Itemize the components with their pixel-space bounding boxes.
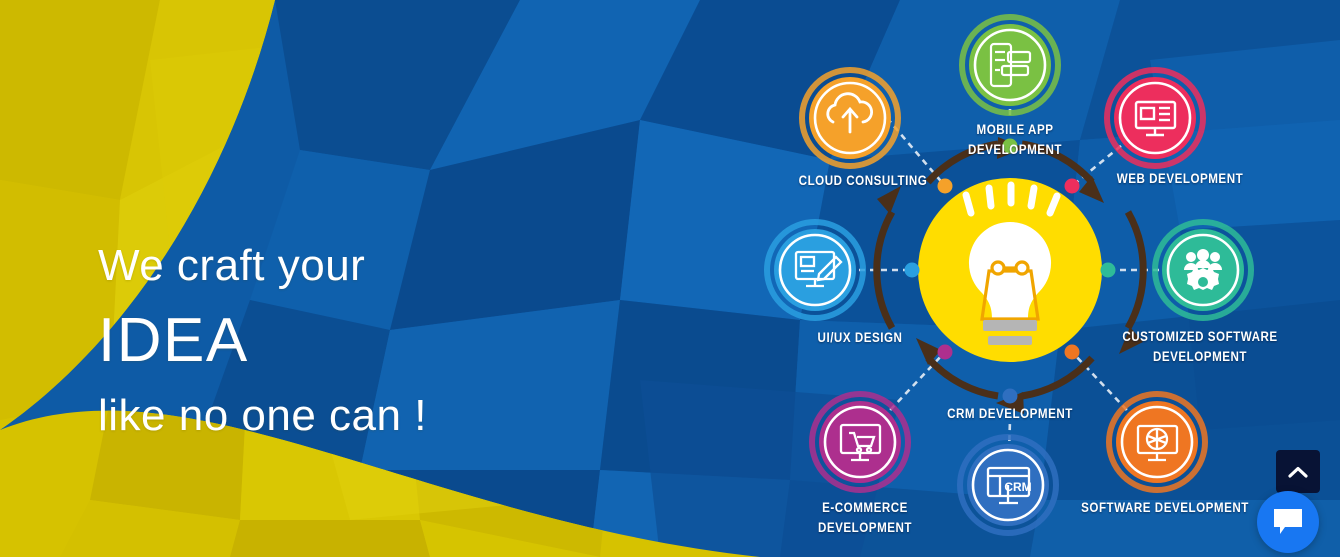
node-web-development[interactable] (1107, 70, 1203, 166)
label-cloud-consulting: CLOUD CONSULTING (781, 171, 944, 191)
node-mobile-app-development[interactable] (962, 17, 1058, 113)
headline-line-3: like no one can ! (98, 394, 528, 438)
services-wheel-graphic: CRM (740, 0, 1340, 557)
label-e-commerce-development: E-COMMERCE DEVELOPMENT (775, 498, 956, 537)
label-web-development: WEB DEVELOPMENT (1098, 169, 1261, 189)
label-software-development: SOFTWARE DEVELOPMENT (1075, 498, 1256, 518)
headline-line-1: We craft your (98, 244, 528, 288)
hero-banner: We craft your IDEA like no one can ! (0, 0, 1340, 557)
scroll-to-top-button[interactable] (1276, 450, 1320, 493)
label-crm-development: CRM DEVELOPMENT (933, 404, 1088, 424)
hero-headline: We craft your IDEA like no one can ! (98, 244, 528, 438)
label-ui-ux-design: UI/UX DESIGN (791, 328, 929, 348)
node-e-commerce-development[interactable] (812, 394, 908, 490)
services-wheel-diagram: CRM (740, 0, 1340, 557)
node-cloud-consulting[interactable] (802, 70, 898, 166)
node-software-development[interactable] (1109, 394, 1205, 490)
label-customized-software-development: CUSTOMIZED SOFTWARE DEVELOPMENT (1110, 327, 1291, 366)
node-customized-software-development[interactable] (1155, 222, 1251, 318)
svg-text:CRM: CRM (1004, 480, 1031, 494)
chat-bubble-icon (1273, 508, 1303, 536)
chevron-up-icon (1288, 465, 1308, 479)
label-mobile-app-development: MOBILE APP DEVELOPMENT (946, 120, 1084, 159)
node-ui-ux-design[interactable] (767, 222, 863, 318)
chat-widget-button[interactable] (1257, 491, 1319, 553)
headline-line-2: IDEA (98, 310, 528, 372)
node-crm-development[interactable]: CRM (960, 437, 1056, 533)
team-gear-icon (1184, 249, 1222, 290)
